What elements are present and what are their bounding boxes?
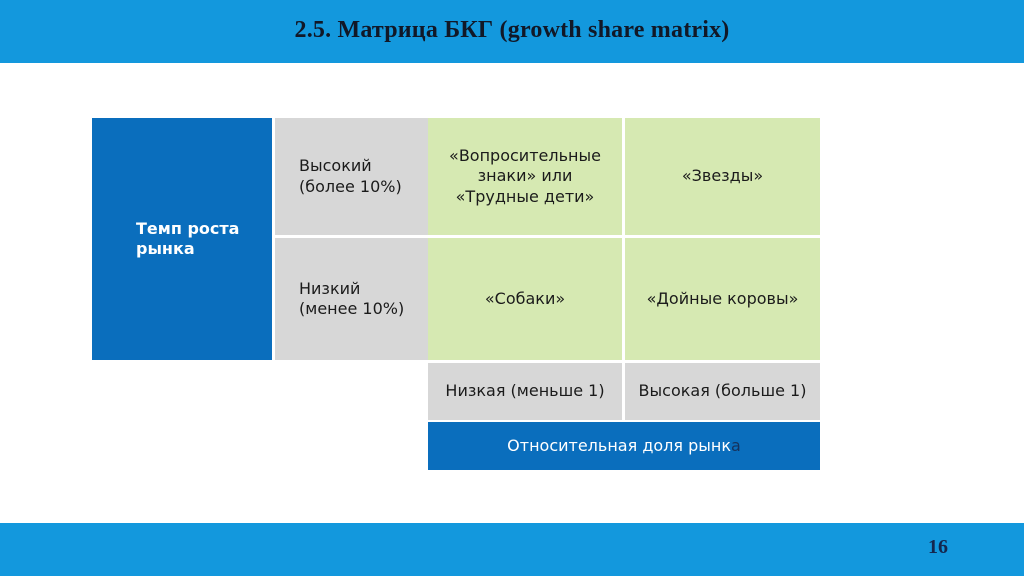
axis-label-market-growth-line1: Темп роста <box>136 219 239 239</box>
axis-label-relative-market-share: Относительная доля рынка <box>428 422 820 470</box>
quadrant-cash-cows-label: «Дойные коровы» <box>647 289 799 309</box>
quadrant-cash-cows: «Дойные коровы» <box>625 238 820 360</box>
quadrant-question-marks: «Вопросительные знаки» или «Трудные дети… <box>428 118 622 235</box>
quadrant-stars: «Звезды» <box>625 118 820 235</box>
axis-label-market-growth: Темп роста рынка <box>92 118 272 360</box>
column-category-low-share: Низкая (меньше 1) <box>428 363 622 420</box>
bcg-matrix: Темп роста рынка Высокий (более 10%) Низ… <box>92 118 820 470</box>
footer-bar <box>0 523 1024 576</box>
quadrant-question-marks-line2: знаки» или <box>449 166 601 186</box>
row-category-high-growth-line1: Высокий <box>299 156 402 176</box>
page-title: 2.5. Матрица БКГ (growth share matrix) <box>0 17 1024 44</box>
quadrant-question-marks-line3: «Трудные дети» <box>449 187 601 207</box>
row-category-low-growth-line1: Низкий <box>299 279 404 299</box>
column-category-high-share: Высокая (больше 1) <box>625 363 820 420</box>
axis-label-relative-market-share-main: Относительная доля рынк <box>507 436 731 455</box>
quadrant-question-marks-line1: «Вопросительные <box>449 146 601 166</box>
axis-label-market-growth-line2: рынка <box>136 239 239 259</box>
axis-label-relative-market-share-tail: а <box>731 436 741 455</box>
row-category-high-growth-line2: (более 10%) <box>299 177 402 197</box>
row-category-low-growth-line2: (менее 10%) <box>299 299 404 319</box>
quadrant-dogs: «Собаки» <box>428 238 622 360</box>
quadrant-stars-label: «Звезды» <box>682 166 763 186</box>
quadrant-dogs-label: «Собаки» <box>485 289 565 309</box>
page-number: 16 <box>918 536 958 559</box>
